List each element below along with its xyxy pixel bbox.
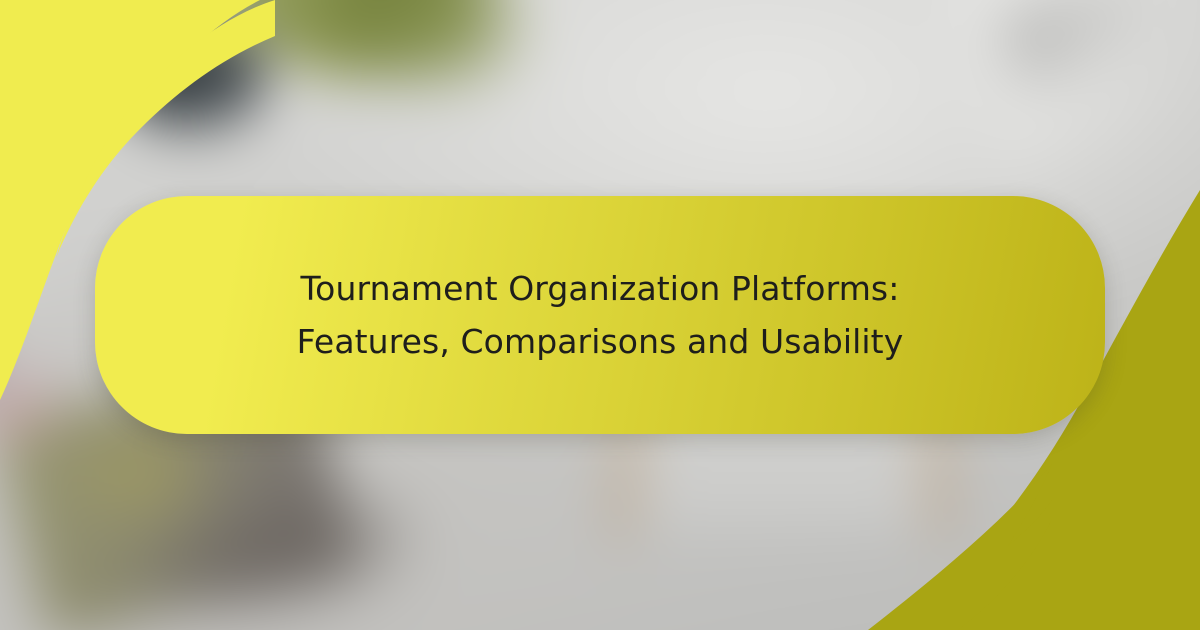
banner-canvas: Tournament Organization Platforms: Featu… (0, 0, 1200, 630)
page-title: Tournament Organization Platforms: Featu… (225, 262, 976, 369)
title-card: Tournament Organization Platforms: Featu… (95, 196, 1105, 434)
cup-highlight (174, 66, 229, 108)
